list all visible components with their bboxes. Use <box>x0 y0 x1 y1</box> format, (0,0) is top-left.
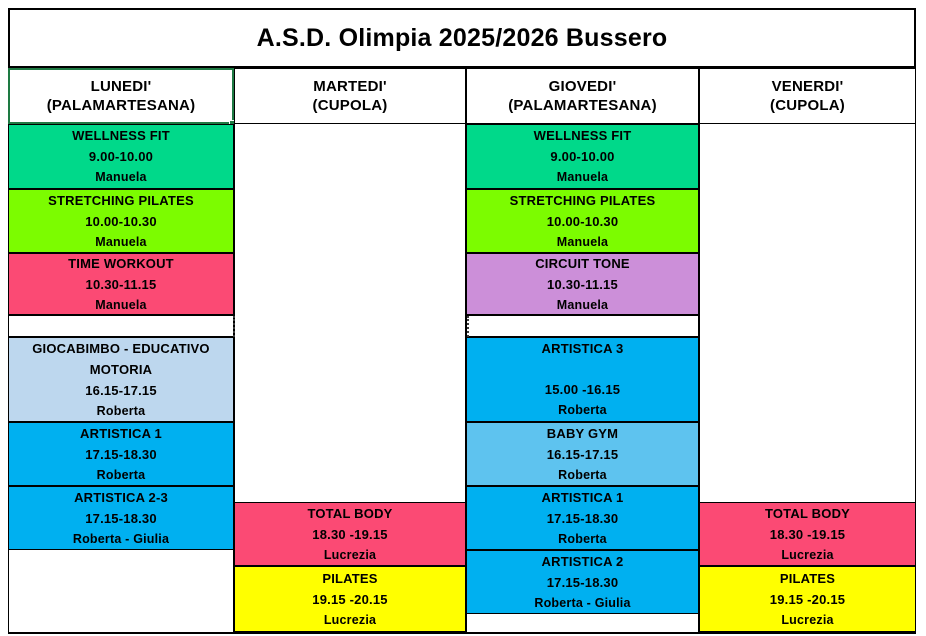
class-instructor: Roberta - Giulia <box>73 529 169 550</box>
class-block-giovedi-6[interactable]: ARTISTICA 1 17.15-18.30 Roberta <box>466 486 699 550</box>
class-time: 19.15 -20.15 <box>770 589 845 610</box>
class-name: TIME WORKOUT <box>68 253 174 274</box>
lunedi-gap-row <box>8 315 234 337</box>
column-header-martedi[interactable]: MARTEDI' (CUPOLA) <box>234 68 466 124</box>
class-time: 16.15-17.15 <box>85 380 157 401</box>
class-instructor: Manuela <box>95 295 146 316</box>
class-name: GIOCABIMBO - EDUCATIVO <box>32 338 210 359</box>
sheet-bottom-border <box>8 632 916 634</box>
class-time: 17.15-18.30 <box>85 508 157 529</box>
class-instructor: Lucrezia <box>324 545 376 566</box>
class-time: 10.00-10.30 <box>547 211 619 232</box>
class-name: ARTISTICA 1 <box>542 487 624 508</box>
giovedi-dotted-edge <box>467 316 469 337</box>
column-header-giovedi[interactable]: GIOVEDI' (PALAMARTESANA) <box>466 68 699 124</box>
class-instructor: Lucrezia <box>324 610 376 631</box>
class-block-martedi-2[interactable]: PILATES 19.15 -20.15 Lucrezia <box>234 566 466 632</box>
class-instructor: Manuela <box>95 167 146 188</box>
column-header-lunedi-day: LUNEDI' <box>91 77 152 96</box>
page-title-text: A.S.D. Olimpia 2025/2026 Bussero <box>257 24 668 53</box>
class-block-lunedi-3[interactable]: TIME WORKOUT 10.30-11.15 Manuela <box>8 253 234 315</box>
column-header-venerdi[interactable]: VENERDI' (CUPOLA) <box>699 68 916 124</box>
class-block-giovedi-4[interactable]: ARTISTICA 3 15.00 -16.15 Roberta <box>466 337 699 422</box>
class-instructor: Manuela <box>557 232 608 253</box>
class-instructor: Manuela <box>557 295 608 316</box>
class-block-lunedi-2[interactable]: STRETCHING PILATES 10.00-10.30 Manuela <box>8 189 234 253</box>
class-name: WELLNESS FIT <box>534 125 632 146</box>
class-block-martedi-1[interactable]: TOTAL BODY 18.30 -19.15 Lucrezia <box>234 502 466 566</box>
class-time: 17.15-18.30 <box>547 508 619 529</box>
schedule-sheet: A.S.D. Olimpia 2025/2026 Bussero LUNEDI'… <box>0 0 926 636</box>
class-block-lunedi-5[interactable]: ARTISTICA 1 17.15-18.30 Roberta <box>8 422 234 486</box>
class-name: STRETCHING PILATES <box>510 190 656 211</box>
class-block-lunedi-4[interactable]: GIOCABIMBO - EDUCATIVO MOTORIA 16.15-17.… <box>8 337 234 422</box>
class-block-venerdi-2[interactable]: PILATES 19.15 -20.15 Lucrezia <box>699 566 916 632</box>
class-time: 9.00-10.00 <box>550 146 614 167</box>
class-time: 10.30-11.15 <box>86 274 157 295</box>
class-name: TOTAL BODY <box>307 503 392 524</box>
giovedi-gap-row <box>466 315 699 337</box>
class-time: 16.15-17.15 <box>547 444 619 465</box>
venerdi-empty-upper <box>699 124 916 502</box>
class-name: WELLNESS FIT <box>72 125 170 146</box>
class-instructor: Roberta <box>558 465 607 486</box>
column-header-giovedi-day: GIOVEDI' <box>549 77 617 96</box>
class-time: 9.00-10.00 <box>89 146 153 167</box>
class-name: STRETCHING PILATES <box>48 190 194 211</box>
class-block-giovedi-5[interactable]: BABY GYM 16.15-17.15 Roberta <box>466 422 699 486</box>
column-header-venerdi-day: VENERDI' <box>772 77 844 96</box>
class-instructor: Roberta <box>558 400 607 421</box>
class-instructor: Lucrezia <box>781 610 833 631</box>
class-block-giovedi-1[interactable]: WELLNESS FIT 9.00-10.00 Manuela <box>466 124 699 189</box>
page-title: A.S.D. Olimpia 2025/2026 Bussero <box>8 8 916 68</box>
class-block-giovedi-2[interactable]: STRETCHING PILATES 10.00-10.30 Manuela <box>466 189 699 253</box>
class-time: 10.30-11.15 <box>547 274 618 295</box>
class-block-giovedi-3[interactable]: CIRCUIT TONE 10.30-11.15 Manuela <box>466 253 699 315</box>
class-instructor: Roberta - Giulia <box>534 593 630 614</box>
class-name: PILATES <box>780 568 835 589</box>
class-instructor: Roberta <box>558 529 607 550</box>
class-name: ARTISTICA 3 <box>542 338 624 359</box>
column-header-lunedi-venue: (PALAMARTESANA) <box>47 96 196 115</box>
class-name-line2: MOTORIA <box>90 359 153 380</box>
lunedi-empty-lower <box>8 550 234 634</box>
class-block-lunedi-1[interactable]: WELLNESS FIT 9.00-10.00 Manuela <box>8 124 234 189</box>
class-instructor: Manuela <box>95 232 146 253</box>
class-instructor: Roberta <box>97 465 146 486</box>
class-name: ARTISTICA 2-3 <box>74 487 168 508</box>
column-header-martedi-day: MARTEDI' <box>313 77 387 96</box>
column-header-lunedi[interactable]: LUNEDI' (PALAMARTESANA) <box>8 68 234 124</box>
class-name: ARTISTICA 2 <box>542 551 624 572</box>
martedi-empty-upper <box>234 124 466 502</box>
class-name: PILATES <box>322 568 377 589</box>
class-block-venerdi-1[interactable]: TOTAL BODY 18.30 -19.15 Lucrezia <box>699 502 916 566</box>
class-time: 10.00-10.30 <box>85 211 157 232</box>
class-time: 17.15-18.30 <box>547 572 619 593</box>
class-time: 18.30 -19.15 <box>770 524 845 545</box>
class-time: 15.00 -16.15 <box>545 379 620 400</box>
class-instructor: Manuela <box>557 167 608 188</box>
column-header-martedi-venue: (CUPOLA) <box>313 96 388 115</box>
class-instructor: Lucrezia <box>781 545 833 566</box>
lunedi-dotted-edge <box>233 316 235 337</box>
class-name: BABY GYM <box>547 423 618 444</box>
column-header-giovedi-venue: (PALAMARTESANA) <box>508 96 657 115</box>
class-name: TOTAL BODY <box>765 503 850 524</box>
class-time: 17.15-18.30 <box>85 444 157 465</box>
class-name: ARTISTICA 1 <box>80 423 162 444</box>
class-time: 19.15 -20.15 <box>312 589 387 610</box>
column-header-venerdi-venue: (CUPOLA) <box>770 96 845 115</box>
class-block-giovedi-7[interactable]: ARTISTICA 2 17.15-18.30 Roberta - Giulia <box>466 550 699 614</box>
giovedi-empty-lower <box>466 614 699 634</box>
class-instructor: Roberta <box>97 401 146 422</box>
class-time: 18.30 -19.15 <box>312 524 387 545</box>
class-name: CIRCUIT TONE <box>535 253 630 274</box>
class-block-lunedi-6[interactable]: ARTISTICA 2-3 17.15-18.30 Roberta - Giul… <box>8 486 234 550</box>
